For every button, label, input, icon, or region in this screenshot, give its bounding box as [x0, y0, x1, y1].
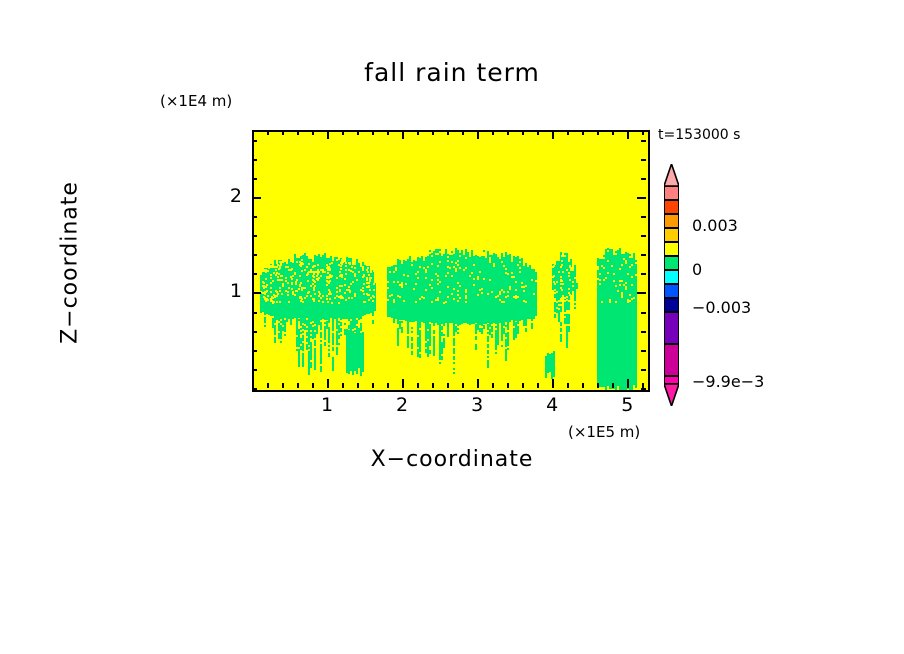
x-tick-label: 5: [612, 394, 642, 416]
x-tick-label: 3: [462, 394, 492, 416]
colorbar-band: [664, 200, 679, 214]
x-axis-title: X−coordinate: [0, 447, 904, 472]
colorbar-bottom-arrow: [664, 384, 679, 406]
colorbar-band: [664, 256, 679, 270]
colorbar-band: [664, 270, 679, 284]
y-axis-title: Z−coordinate: [58, 133, 83, 393]
colorbar-band: [664, 186, 679, 200]
colorbar-band: [664, 344, 679, 376]
colorbar-band: [664, 284, 679, 298]
plot-area: [252, 130, 650, 392]
colorbar: 0.0030−0.003−9.9e−3: [664, 186, 679, 384]
colorbar-band: [664, 312, 679, 344]
page-title: fall rain term: [0, 58, 904, 87]
colorbar-tick-label: 0.003: [692, 216, 738, 235]
colorbar-band: [664, 376, 679, 384]
timestamp-annotation: t=153000 s: [658, 127, 740, 143]
colorbar-top-arrow: [664, 164, 679, 186]
contour-field: [254, 132, 648, 390]
y-axis-unit-label: (×1E4 m): [160, 92, 232, 110]
x-tick-label: 4: [537, 394, 567, 416]
x-tick-label: 2: [387, 394, 417, 416]
x-axis-unit-label: (×1E5 m): [568, 423, 640, 441]
colorbar-band: [664, 298, 679, 312]
y-tick-label: 2: [212, 185, 242, 207]
x-tick-label: 1: [312, 394, 342, 416]
colorbar-band: [664, 214, 679, 228]
y-tick-label: 1: [212, 280, 242, 302]
colorbar-tick-label: −9.9e−3: [692, 372, 764, 391]
colorbar-band: [664, 242, 679, 256]
colorbar-tick-label: 0: [692, 260, 702, 279]
contour-field-svg: [254, 132, 648, 390]
colorbar-tick-label: −0.003: [692, 298, 751, 317]
colorbar-band: [664, 228, 679, 242]
